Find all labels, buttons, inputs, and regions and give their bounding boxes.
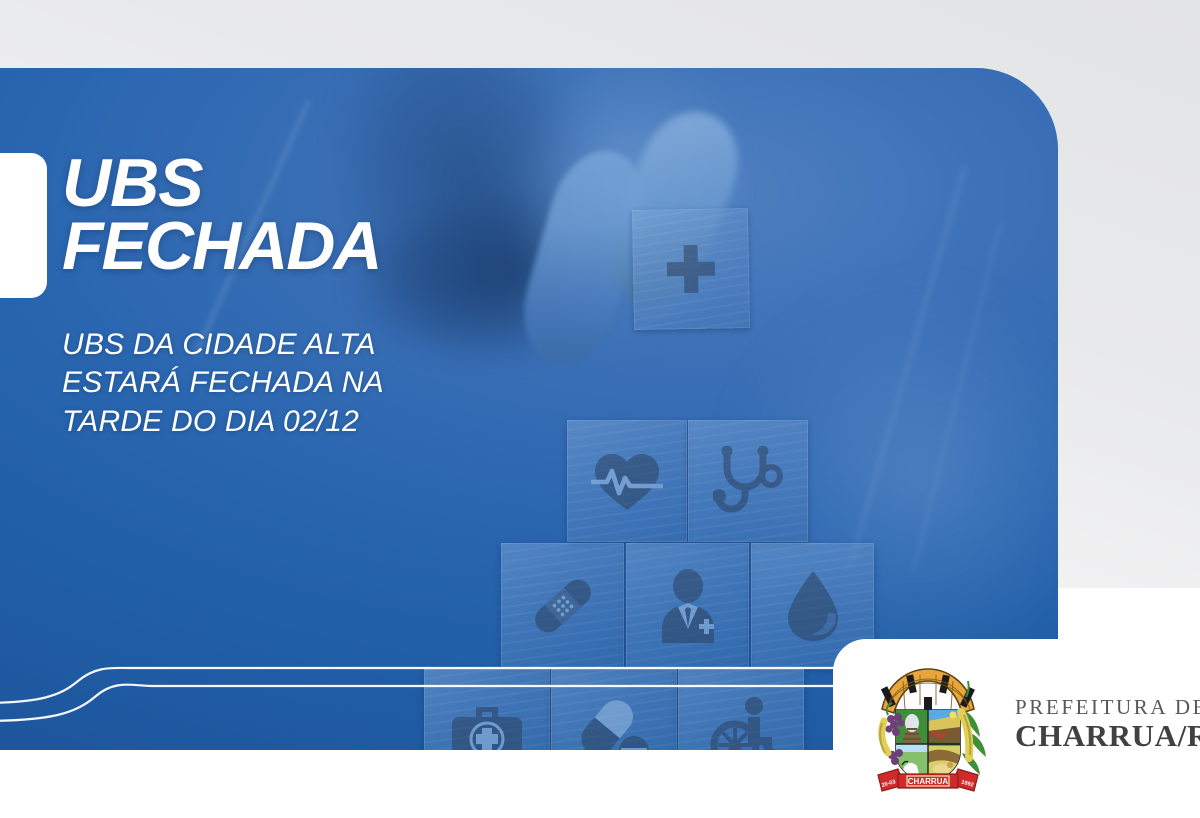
- crest-mural-crown: [881, 669, 975, 713]
- heart-pulse-icon: [591, 449, 663, 513]
- poster-root: UBS FECHADA UBS DA CIDADE ALTA ESTARÁ FE…: [0, 0, 1200, 818]
- subtitle-line-1: UBS DA CIDADE ALTA: [62, 326, 482, 364]
- charrua-coat-of-arms: CHARRUA 20-03 1992: [858, 657, 998, 797]
- logo-card: CHARRUA 20-03 1992 PREFEITURA DE CHARRUA…: [833, 639, 1200, 818]
- page-title: UBS FECHADA: [62, 152, 762, 278]
- wheelchair-icon: [702, 696, 780, 750]
- cube-doctor: [626, 543, 749, 668]
- subtitle-line-2: ESTARÁ FECHADA NA: [62, 364, 482, 402]
- cube-pills: [551, 669, 677, 750]
- pill-capsule-icon: [577, 696, 651, 750]
- headline-line-2: FECHADA: [62, 215, 762, 278]
- blood-drop-icon: [784, 569, 842, 643]
- brand-lockup: PREFEITURA DE CHARRUA/RS: [1015, 695, 1200, 753]
- doctor-icon: [652, 569, 724, 643]
- page-subtitle: UBS DA CIDADE ALTA ESTARÁ FECHADA NA TAR…: [62, 326, 482, 441]
- crest-banner-text: CHARRUA: [908, 777, 949, 786]
- first-aid-kit-icon: [448, 701, 526, 750]
- cube-bandaid: [501, 543, 624, 668]
- cube-heartbeat: [567, 420, 687, 542]
- stethoscope-icon: [713, 446, 783, 516]
- left-white-notch: [0, 153, 47, 298]
- crest-shield: [896, 710, 960, 784]
- cube-stethoscope: [688, 420, 808, 542]
- cube-medicalkit: [424, 669, 550, 750]
- cube-wheelchair: [678, 669, 804, 750]
- brand-line-2: CHARRUA/RS: [1015, 719, 1200, 753]
- bandage-icon: [526, 569, 600, 643]
- subtitle-line-3: TARDE DO DIA 02/12: [62, 403, 482, 441]
- brand-line-1: PREFEITURA DE: [1015, 695, 1200, 719]
